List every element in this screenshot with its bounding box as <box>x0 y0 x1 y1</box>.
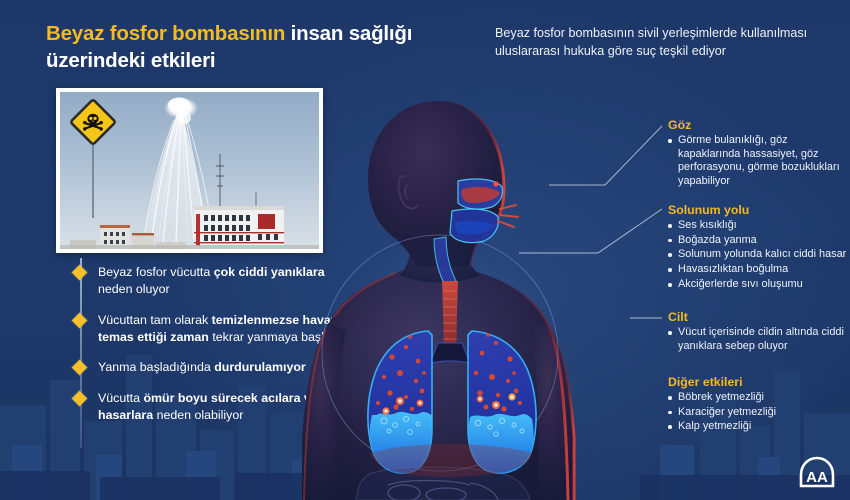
list-item: Böbrek yetmezliği <box>668 391 850 405</box>
callout-diger-etkileri: Diğer etkileri Böbrek yetmezliği Karaciğ… <box>668 375 850 435</box>
callout-heading: Göz <box>668 118 850 132</box>
bullet-text-plain: Vücuttan tam olarak <box>98 313 212 327</box>
callout-solunum-yolu: Solunum yolu Ses kısıklığı Boğazda yanma… <box>668 203 850 293</box>
bullet-text-plain: Beyaz fosfor vücutta <box>98 265 214 279</box>
list-item: Akciğerlerde sıvı oluşumu <box>668 278 850 292</box>
hazard-skull-sign-icon <box>66 98 120 218</box>
diamond-bullet-icon <box>72 360 88 376</box>
diamond-bullet-icon <box>72 391 88 407</box>
bullet-text-plain: Vücutta <box>98 391 143 405</box>
callout-items: Görme bulanıklığı, göz kapaklarında hass… <box>668 134 850 189</box>
bullet-text-bold: durdurulamıyor <box>214 360 306 374</box>
page-title-highlight: Beyaz fosfor bombasının <box>46 22 285 45</box>
list-item: Karaciğer yetmezliği <box>668 406 850 420</box>
callout-heading: Solunum yolu <box>668 203 850 217</box>
callout-heading: Diğer etkileri <box>668 375 850 389</box>
diamond-bullet-icon <box>72 265 88 281</box>
bullet-text-plain-tail: neden oluyor <box>98 282 170 296</box>
callout-heading: Cilt <box>668 310 850 324</box>
list-item: Vücut içerisinde cildin altında ciddi ya… <box>668 326 850 353</box>
callout-panel: Göz Görme bulanıklığı, göz kapaklarında … <box>668 0 850 500</box>
white-phosphorus-photo-frame <box>56 88 323 253</box>
bullet-text-plain-tail: neden olabiliyor <box>153 408 243 422</box>
callout-goz: Göz Görme bulanıklığı, göz kapaklarında … <box>668 118 850 190</box>
page-title: Beyaz fosfor bombasının insan sağlığı üz… <box>46 20 476 75</box>
logo-text: AA <box>806 469 828 486</box>
human-torso-anatomy-illustration <box>300 85 700 500</box>
callout-cilt: Cilt Vücut içerisinde cildin altında cid… <box>668 310 850 354</box>
callout-items: Vücut içerisinde cildin altında ciddi ya… <box>668 326 850 353</box>
list-item: Ses kısıklığı <box>668 219 850 233</box>
diamond-bullet-icon <box>72 312 88 328</box>
list-item: Kalp yetmezliği <box>668 420 850 434</box>
list-item: Görme bulanıklığı, göz kapaklarında hass… <box>668 134 850 189</box>
list-item: Boğazda yanma <box>668 234 850 248</box>
callout-items: Ses kısıklığı Boğazda yanma Solunum yolu… <box>668 219 850 292</box>
callout-items: Böbrek yetmezliği Karaciğer yetmezliği K… <box>668 391 850 434</box>
bullet-text-plain: Yanma başladığında <box>98 360 214 374</box>
anadolu-agency-logo: AA <box>796 456 838 490</box>
white-phosphorus-photo <box>60 92 319 249</box>
infographic-canvas: Beyaz fosfor bombasının insan sağlığı üz… <box>0 0 850 500</box>
list-item: Solunum yolunda kalıcı ciddi hasar <box>668 248 850 262</box>
list-item: Havasızlıktan boğulma <box>668 263 850 277</box>
